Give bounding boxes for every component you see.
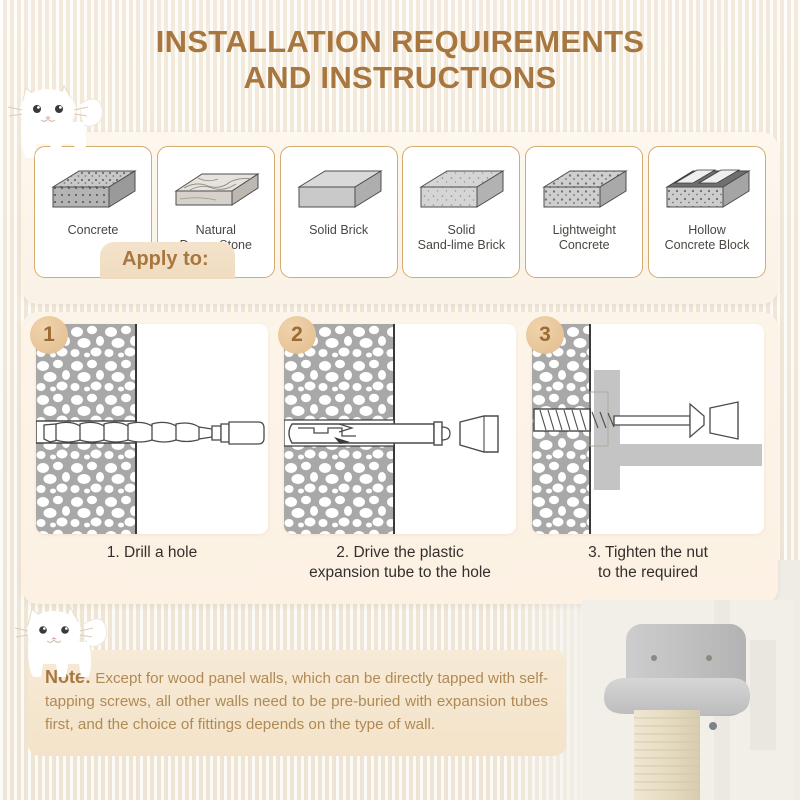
- step-3-illustration-frame: [532, 324, 764, 534]
- apply-to-panel: Apply to:: [22, 132, 778, 304]
- sand-lime-brick-icon: [413, 157, 509, 219]
- step-list: 1. Drill a hole 1: [22, 324, 778, 583]
- material-label: Lightweight Concrete: [550, 223, 619, 254]
- hollow-concrete-block-icon: [659, 157, 755, 219]
- expansion-tube-in-wall-icon: [284, 324, 516, 534]
- material-card-lightweight-concrete[interactable]: Lightweight Concrete: [525, 146, 643, 278]
- material-label: Solid Brick: [306, 223, 371, 238]
- material-label: Concrete: [65, 223, 122, 238]
- natural-dense-stone-icon: [168, 157, 264, 219]
- page-title: INSTALLATION REQUIREMENTS AND INSTRUCTIO…: [0, 24, 800, 96]
- screw-tightened-in-wall-icon: [532, 324, 764, 534]
- step-3: 3. Tighten the nut to the required 3: [532, 324, 764, 583]
- step-2-caption: 2. Drive the plastic expansion tube to t…: [284, 543, 516, 583]
- step-3-number-badge: 3: [526, 316, 564, 354]
- note-text: Note: Except for wood panel walls, which…: [45, 664, 548, 737]
- drill-bit-in-wall-icon: [36, 324, 268, 534]
- step-1: 1. Drill a hole 1: [36, 324, 268, 583]
- step-2: 2. Drive the plastic expansion tube to t…: [284, 324, 516, 583]
- lightweight-concrete-icon: [536, 157, 632, 219]
- page-title-line1: INSTALLATION REQUIREMENTS: [156, 24, 645, 59]
- white-cat-illustration-top: [6, 82, 110, 168]
- step-2-illustration-frame: [284, 324, 516, 534]
- step-1-caption: 1. Drill a hole: [36, 543, 268, 563]
- step-1-illustration-frame: [36, 324, 268, 534]
- material-label: Solid Sand-lime Brick: [415, 223, 509, 254]
- step-3-caption: 3. Tighten the nut to the required: [532, 543, 764, 583]
- note-body: Except for wood panel walls, which can b…: [45, 670, 548, 733]
- solid-brick-icon: [291, 157, 387, 219]
- material-card-solid-sand-lime-brick[interactable]: Solid Sand-lime Brick: [402, 146, 520, 278]
- installation-steps-panel: 1. Drill a hole 1: [22, 312, 778, 604]
- step-2-number-badge: 2: [278, 316, 316, 354]
- white-cat-illustration-note: [14, 604, 114, 686]
- material-card-solid-brick[interactable]: Solid Brick: [280, 146, 398, 278]
- step-1-number-badge: 1: [30, 316, 68, 354]
- material-card-hollow-concrete-block[interactable]: Hollow Concrete Block: [648, 146, 766, 278]
- material-label: Hollow Concrete Block: [662, 223, 753, 254]
- product-photo-cat-perch: [582, 600, 794, 800]
- apply-to-tab-label: Apply to:: [100, 242, 235, 279]
- page-title-line2: AND INSTRUCTIONS: [0, 60, 800, 96]
